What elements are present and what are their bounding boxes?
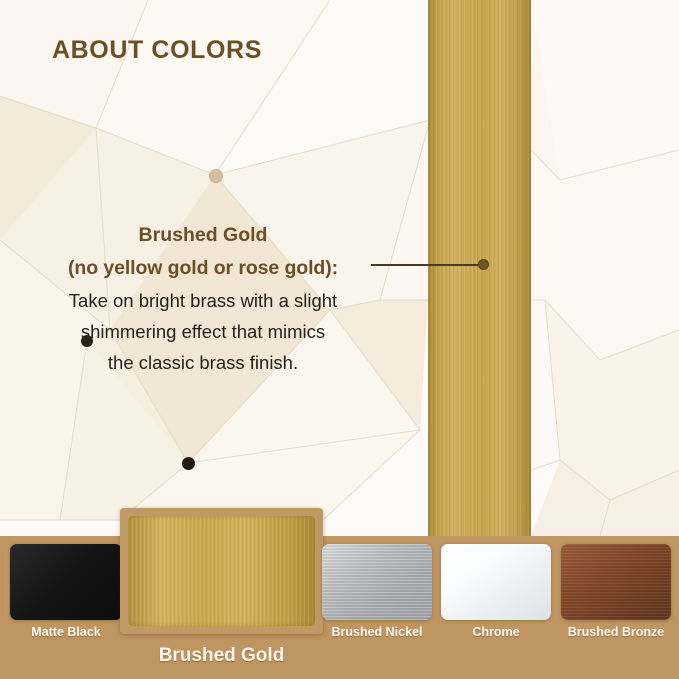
about-colors-infographic: ABOUT COLORS Brushed Gold (no yellow gol… xyxy=(0,0,679,679)
annotation-heading-line2: (no yellow gold or rose gold): xyxy=(38,252,368,285)
annotation-body-line3: the classic brass finish. xyxy=(38,347,368,378)
callout-leader-line xyxy=(371,264,483,266)
annotation-body-line1: Take on bright brass with a slight xyxy=(38,285,368,316)
swatch-label-brushed-nickel: Brushed Nickel xyxy=(318,625,436,639)
vertex-dot-dark-left xyxy=(81,335,93,347)
callout-end-dot xyxy=(478,259,489,270)
page-title: ABOUT COLORS xyxy=(52,36,262,65)
vertex-dot-dark-center xyxy=(182,457,195,470)
swatch-label-chrome: Chrome xyxy=(441,625,551,639)
swatch-matte-black xyxy=(10,544,122,620)
annotation-text-block: Brushed Gold (no yellow gold or rose gol… xyxy=(38,219,368,378)
swatch-label-matte-black: Matte Black xyxy=(10,625,122,639)
vertex-dot-tan xyxy=(209,169,223,183)
swatch-chrome xyxy=(441,544,551,620)
swatch-brushed-nickel xyxy=(322,544,432,620)
swatch-brushed-bronze xyxy=(561,544,671,620)
swatch-label-brushed-bronze: Brushed Bronze xyxy=(556,625,676,639)
annotation-heading-line1: Brushed Gold xyxy=(38,219,368,252)
swatch-label-brushed-gold: Brushed Gold xyxy=(120,645,323,667)
swatch-brushed-gold xyxy=(128,516,315,626)
